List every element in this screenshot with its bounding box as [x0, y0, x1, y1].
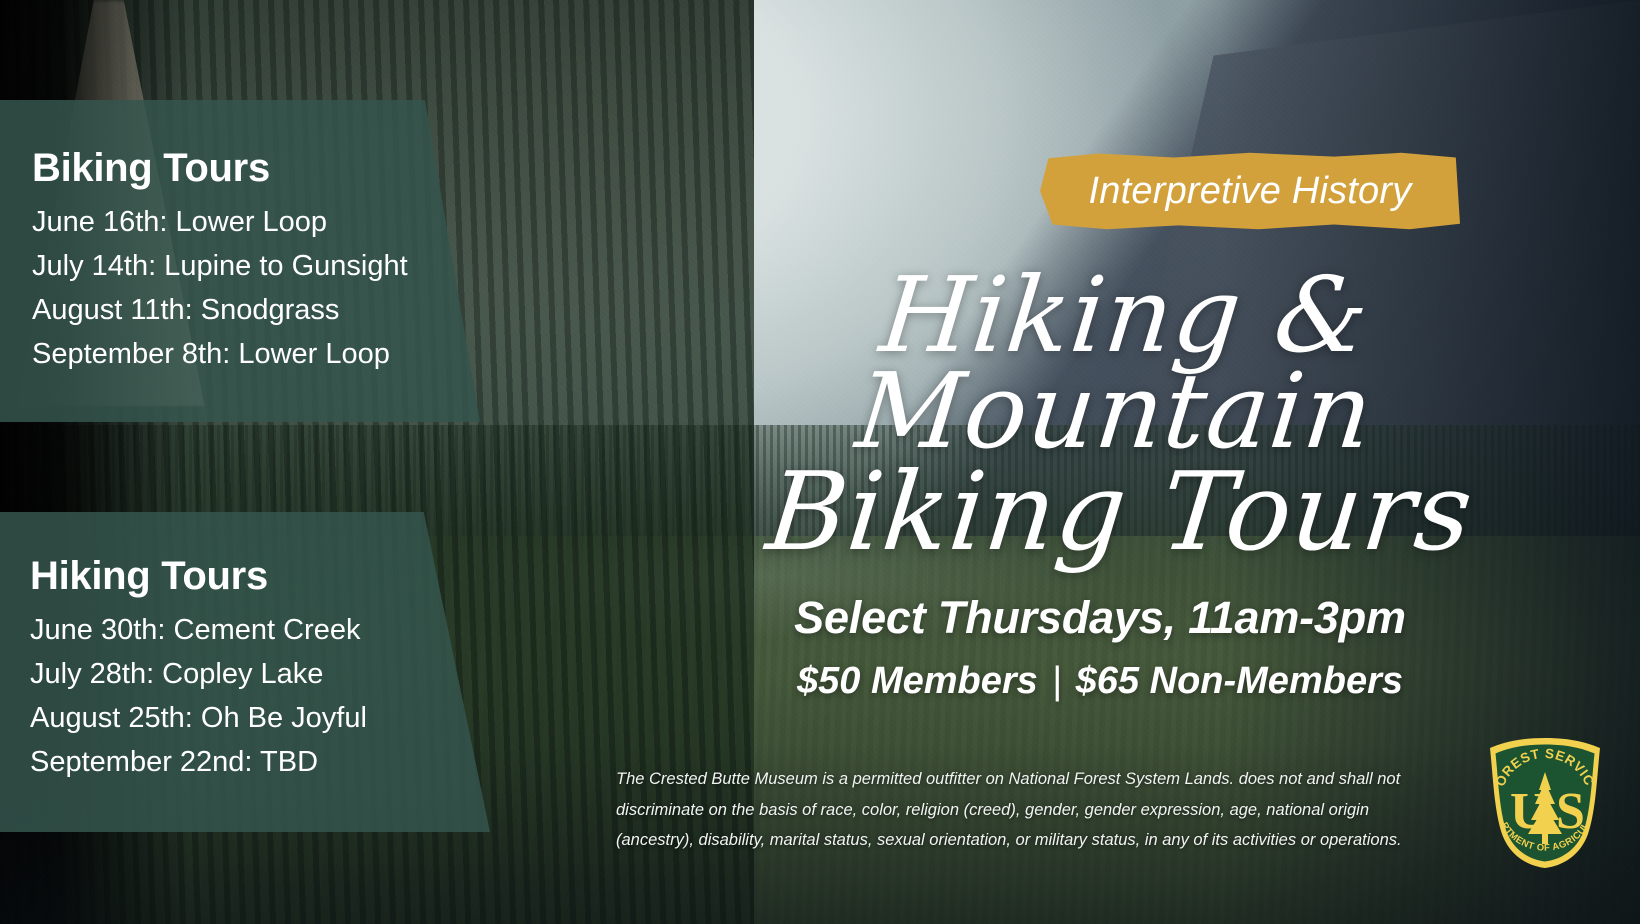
disclaimer-line-3: (ancestry), disability, marital status, …	[616, 825, 1406, 856]
list-item: July 14th: Lupine to Gunsight	[32, 244, 450, 288]
list-item: June 30th: Cement Creek	[30, 608, 460, 652]
poster-canvas: Biking Tours June 16th: Lower Loop July …	[0, 0, 1640, 924]
schedule-text: Select Thursdays, 11am-3pm	[700, 592, 1500, 644]
forest-service-shield-icon: FOREST SERVICE U S DEPARTMENT OF AGRICUL…	[1484, 736, 1606, 870]
price-members: $50 Members	[797, 660, 1038, 702]
interpretive-history-label: Interpretive History	[1089, 170, 1412, 213]
disclaimer-line-2: discriminate on the basis of race, color…	[616, 795, 1406, 826]
list-item: September 22nd: TBD	[30, 740, 460, 784]
hiking-tours-title: Hiking Tours	[30, 554, 460, 598]
biking-tours-panel: Biking Tours June 16th: Lower Loop July …	[0, 100, 480, 422]
biking-tours-title: Biking Tours	[32, 146, 450, 190]
hiking-tours-panel: Hiking Tours June 30th: Cement Creek Jul…	[0, 512, 490, 832]
list-item: August 25th: Oh Be Joyful	[30, 696, 460, 740]
list-item: August 11th: Snodgrass	[32, 288, 450, 332]
price-non-members: $65 Non-Members	[1076, 660, 1403, 702]
list-item: September 8th: Lower Loop	[32, 332, 450, 376]
price-separator: |	[1038, 660, 1076, 702]
list-item: June 16th: Lower Loop	[32, 200, 450, 244]
disclaimer-line-1: The Crested Butte Museum is a permitted …	[616, 764, 1406, 795]
pricing-text: $50 Members|$65 Non-Members	[700, 660, 1500, 703]
biking-tours-list: June 16th: Lower Loop July 14th: Lupine …	[32, 200, 450, 376]
interpretive-history-badge: Interpretive History	[1040, 152, 1460, 230]
hiking-tours-list: June 30th: Cement Creek July 28th: Cople…	[30, 608, 460, 784]
event-details: Select Thursdays, 11am-3pm $50 Members|$…	[700, 592, 1500, 703]
list-item: July 28th: Copley Lake	[30, 652, 460, 696]
disclaimer-text: The Crested Butte Museum is a permitted …	[616, 764, 1406, 856]
